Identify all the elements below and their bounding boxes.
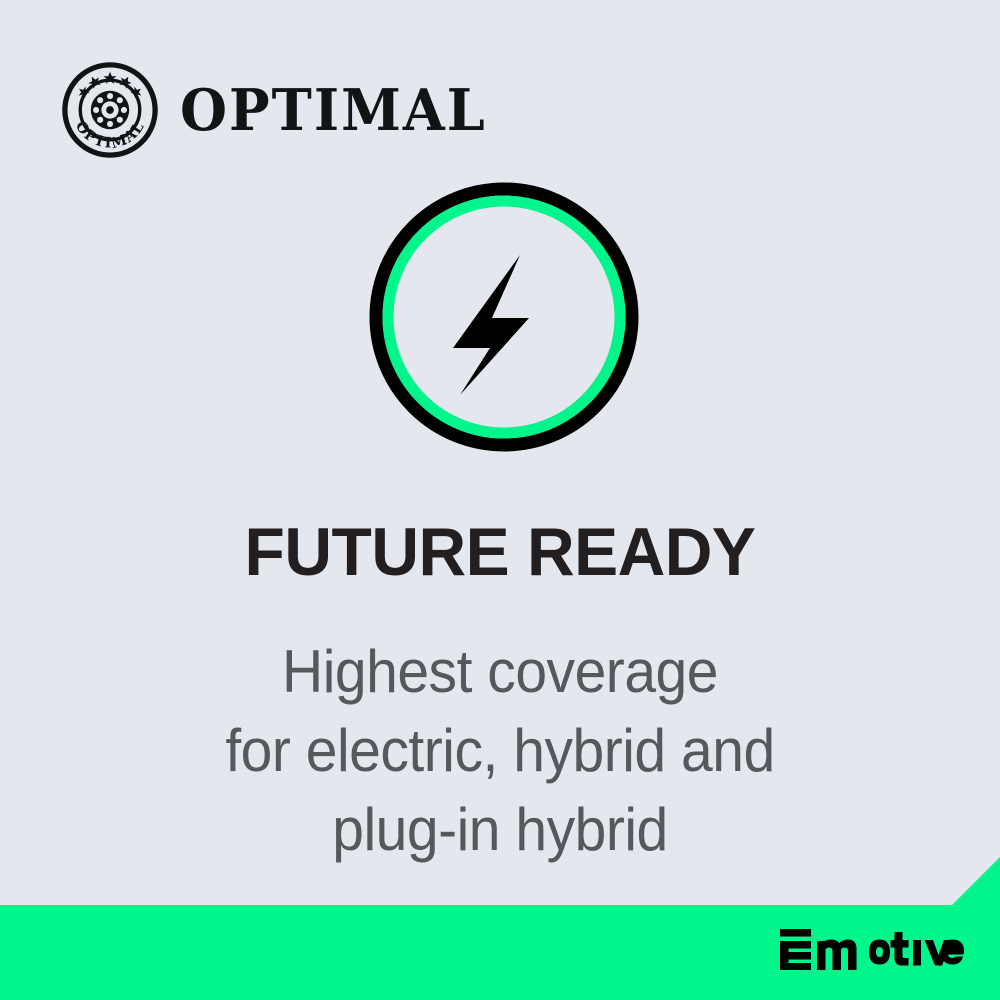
footer-band: Emotive	[0, 855, 1000, 1000]
page-title: FUTURE READY	[15, 518, 985, 586]
bolt-shape	[453, 255, 529, 395]
lightning-bolt-in-circle-icon	[369, 182, 639, 452]
subtitle-line-1: Highest coverage	[25, 632, 975, 711]
subtitle-line-2: for electric, hybrid and	[25, 711, 975, 790]
emotive-logo-shape	[779, 928, 965, 970]
optimal-wheel-bearing-badge-icon: OPTIMAL	[62, 62, 158, 158]
subtitle-block: Highest coverage for electric, hybrid an…	[0, 632, 1000, 869]
brand-header: OPTIMAL OPTIMAL	[62, 62, 487, 158]
poster-canvas: OPTIMAL OPTIMAL	[0, 0, 1000, 1000]
emotive-wordmark-logo: Emotive	[779, 928, 965, 970]
brand-wordmark: OPTIMAL	[180, 81, 487, 138]
hero-icon	[369, 182, 639, 452]
